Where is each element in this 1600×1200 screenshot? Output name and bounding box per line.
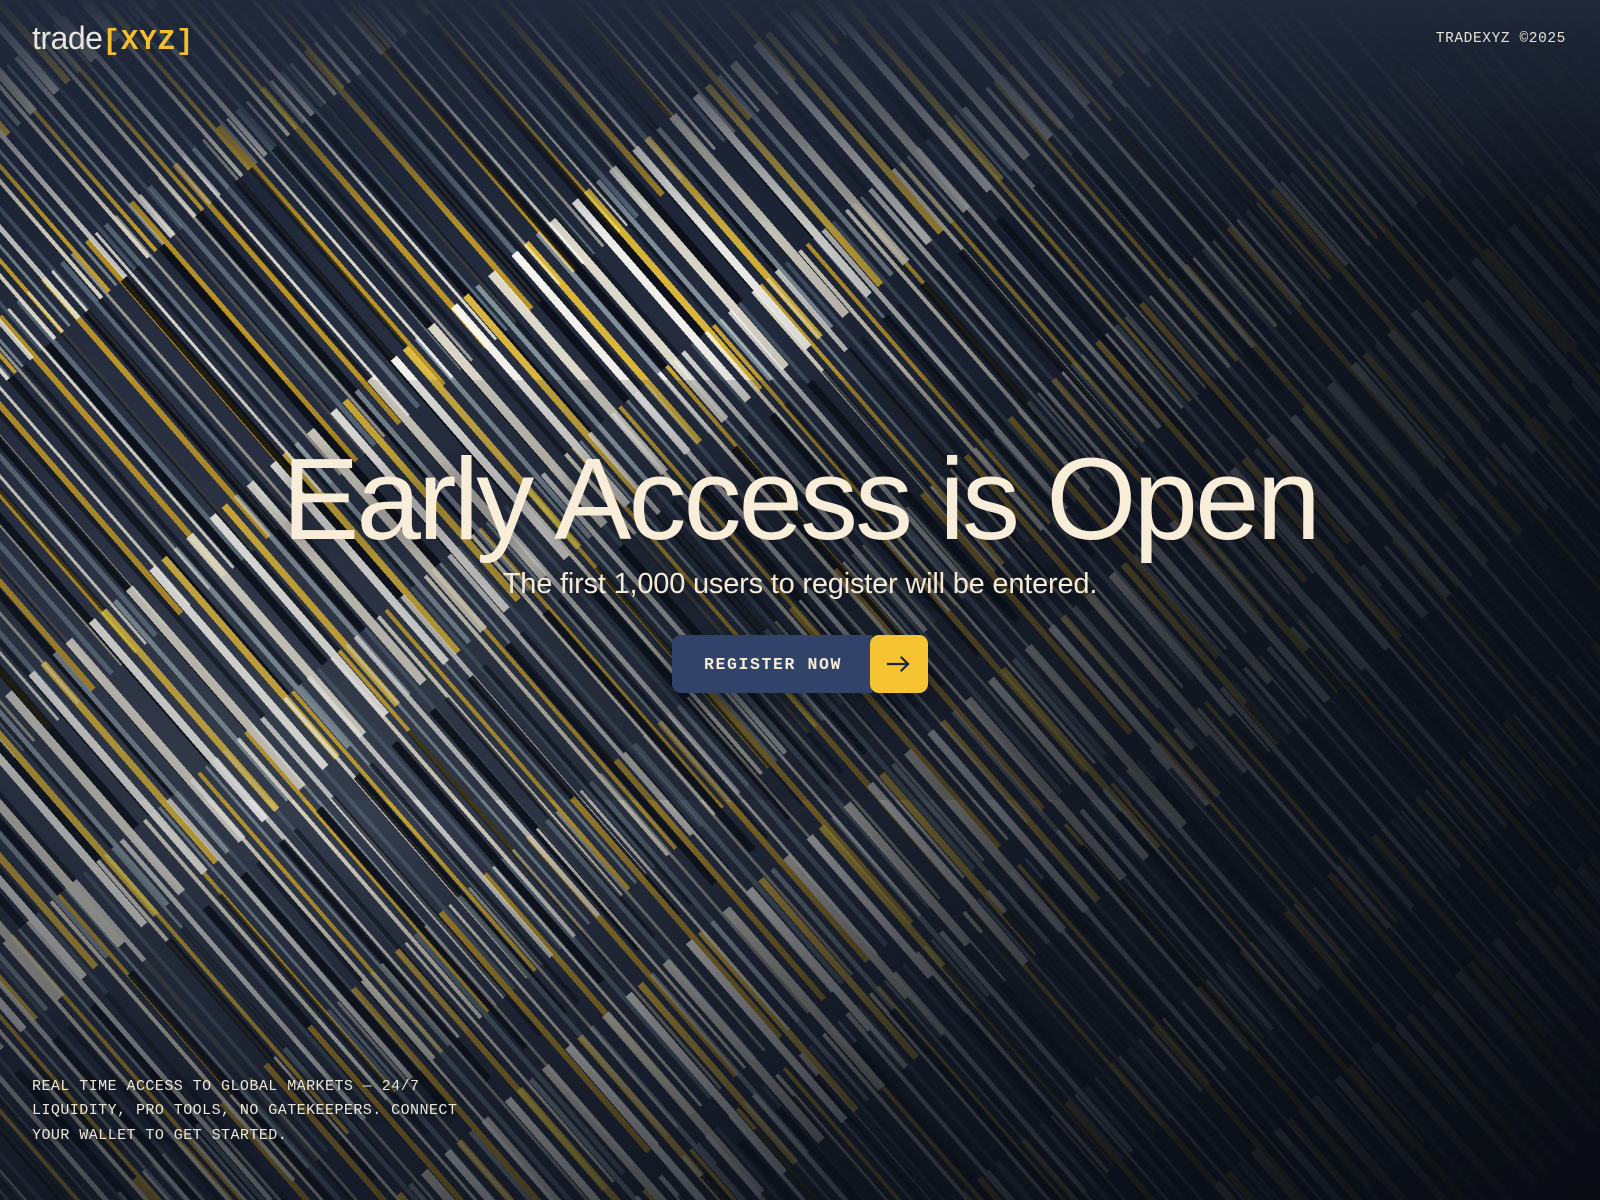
- register-now-button[interactable]: REGISTER NOW: [672, 635, 872, 693]
- copyright-notice: TRADEXYZ ©2025: [1436, 31, 1566, 47]
- brand-logo[interactable]: trade[XYZ]: [32, 22, 194, 56]
- hero-section: Early Access is Open The first 1,000 use…: [0, 440, 1600, 693]
- register-cta-group[interactable]: REGISTER NOW: [672, 635, 928, 693]
- footer-blurb: REAL TIME ACCESS TO GLOBAL MARKETS — 24/…: [32, 1075, 502, 1148]
- arrow-right-icon: [886, 655, 912, 673]
- brand-logo-word: trade: [32, 22, 102, 54]
- brand-logo-bracket-mark: [XYZ]: [102, 27, 194, 56]
- landing-page: trade[XYZ] TRADEXYZ ©2025 Early Access i…: [0, 0, 1600, 1200]
- register-arrow-button[interactable]: [870, 635, 928, 693]
- hero-subtitle: The first 1,000 users to register will b…: [503, 568, 1097, 601]
- site-header: trade[XYZ] TRADEXYZ ©2025: [0, 0, 1600, 78]
- page-title: Early Access is Open: [282, 440, 1318, 558]
